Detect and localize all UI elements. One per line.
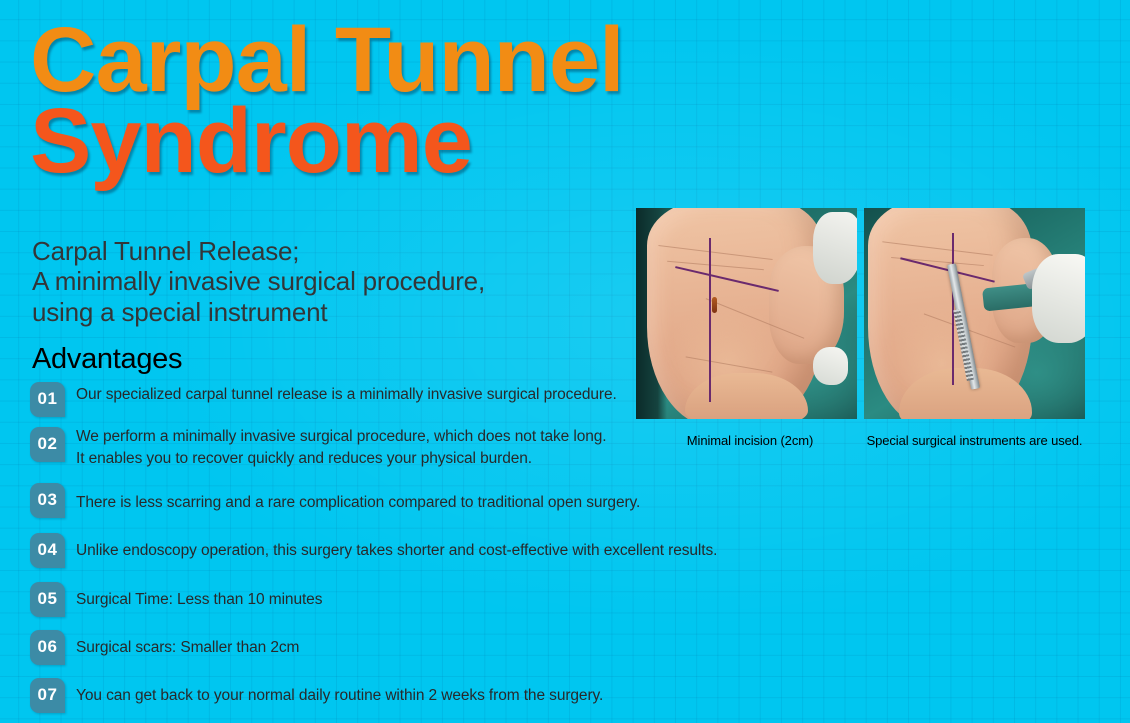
list-item: 03 There is less scarring and a rare com… xyxy=(30,483,730,521)
photo-caption: Minimal incision (2cm) xyxy=(636,433,864,448)
item-text-line: Surgical Time: Less than 10 minutes xyxy=(76,589,322,611)
item-text: Surgical Time: Less than 10 minutes xyxy=(65,582,322,611)
subtitle-line-2: A minimally invasive surgical procedure, xyxy=(32,266,485,296)
list-item: 04 Unlike endoscopy operation, this surg… xyxy=(30,533,730,571)
item-text-line: Unlike endoscopy operation, this surgery… xyxy=(76,540,717,562)
item-text-line: It enables you to recover quickly and re… xyxy=(76,448,606,470)
surgical-instrument-in-palm-photo xyxy=(864,208,1085,419)
list-item: 06 Surgical scars: Smaller than 2cm xyxy=(30,630,730,668)
surgical-marking-vertical xyxy=(709,238,711,403)
photo-row xyxy=(636,208,1085,419)
item-number-badge: 07 xyxy=(30,678,65,713)
glove xyxy=(813,212,857,284)
advantages-heading: Advantages xyxy=(32,343,182,376)
item-number-badge: 02 xyxy=(30,427,65,462)
item-text: Our specialized carpal tunnel release is… xyxy=(65,382,617,406)
subtitle: Carpal Tunnel Release; A minimally invas… xyxy=(32,236,485,327)
incision xyxy=(712,297,717,313)
glove xyxy=(1032,254,1085,343)
item-number-badge: 03 xyxy=(30,483,65,518)
item-text: There is less scarring and a rare compli… xyxy=(65,483,640,514)
photo-caption: Special surgical instruments are used. xyxy=(864,433,1085,448)
item-text-line: Surgical scars: Smaller than 2cm xyxy=(76,637,299,659)
title-line-2: Syndrome xyxy=(30,99,624,184)
item-text: You can get back to your normal daily ro… xyxy=(65,678,603,707)
item-text-line: Our specialized carpal tunnel release is… xyxy=(76,384,617,406)
item-text: Surgical scars: Smaller than 2cm xyxy=(65,630,299,659)
photo-gallery: Minimal incision (2cm) Special surgical … xyxy=(636,208,1085,448)
item-number-badge: 04 xyxy=(30,533,65,568)
item-text-line: There is less scarring and a rare compli… xyxy=(76,492,640,514)
palm-with-surgical-markings-photo xyxy=(636,208,857,419)
list-item: 05 Surgical Time: Less than 10 minutes xyxy=(30,582,730,620)
poster-canvas: Carpal Tunnel Syndrome Carpal Tunnel Rel… xyxy=(0,0,1130,723)
list-item: 01 Our specialized carpal tunnel release… xyxy=(30,382,730,420)
item-number-badge: 06 xyxy=(30,630,65,665)
list-item: 07 You can get back to your normal daily… xyxy=(30,678,730,716)
subtitle-line-3: using a special instrument xyxy=(32,297,485,327)
photo-captions: Minimal incision (2cm) Special surgical … xyxy=(636,433,1085,448)
page-title: Carpal Tunnel Syndrome xyxy=(30,18,624,183)
item-text: Unlike endoscopy operation, this surgery… xyxy=(65,533,717,562)
advantages-list: 01 Our specialized carpal tunnel release… xyxy=(30,382,730,723)
item-text-line: We perform a minimally invasive surgical… xyxy=(76,426,606,448)
item-number-badge: 01 xyxy=(30,382,65,417)
glove-secondary xyxy=(813,347,848,385)
item-text: We perform a minimally invasive surgical… xyxy=(65,423,606,471)
list-item: 02 We perform a minimally invasive surgi… xyxy=(30,427,730,471)
item-number-badge: 05 xyxy=(30,582,65,617)
subtitle-line-1: Carpal Tunnel Release; xyxy=(32,236,485,266)
item-text-line: You can get back to your normal daily ro… xyxy=(76,685,603,707)
